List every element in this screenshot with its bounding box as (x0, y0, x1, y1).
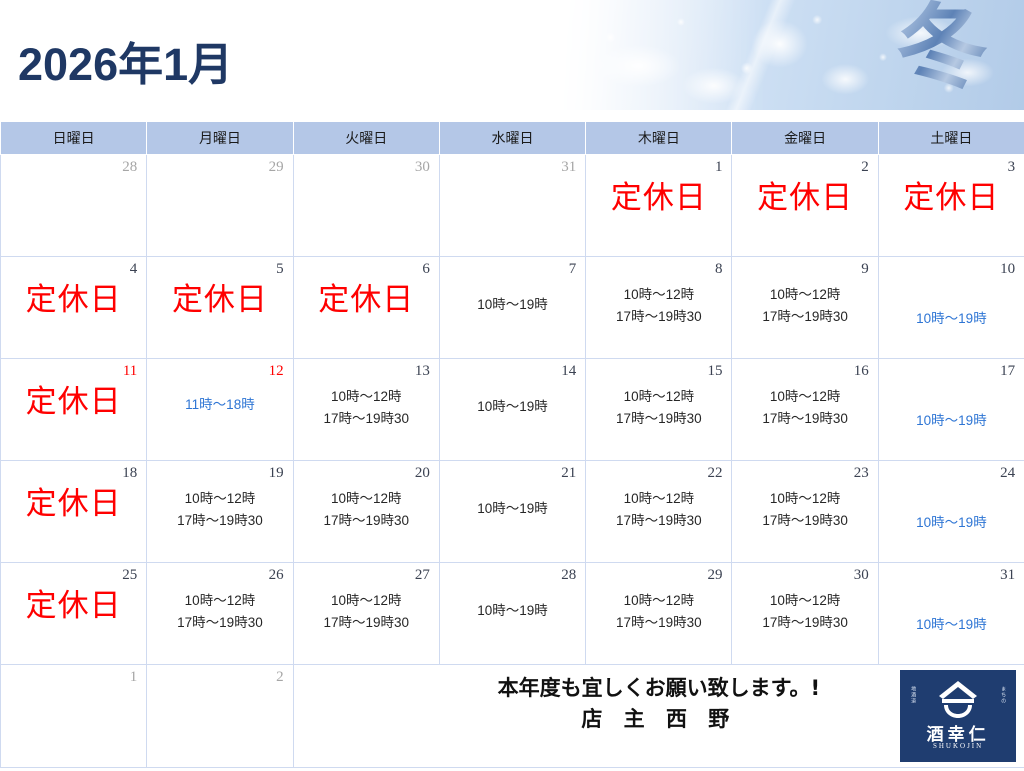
day-cell[interactable]: 1211時〜18時 (147, 359, 293, 461)
calendar-table: 日曜日 月曜日 火曜日 水曜日 木曜日 金曜日 土曜日 282930311定休日… (0, 121, 1024, 768)
day-content: 定休日 (586, 178, 731, 218)
day-cell[interactable]: 6定休日 (293, 257, 439, 359)
day-cell[interactable]: 29 (147, 155, 293, 257)
footer-row: 1 2 本年度も宜しくお願い致します。! 店 主 西 野 (1, 665, 1024, 768)
day-number: 28 (1, 155, 146, 176)
business-hours-line: 10時〜12時 (298, 386, 435, 408)
day-cell[interactable]: 3定休日 (878, 155, 1024, 257)
closed-label: 定休日 (5, 382, 142, 422)
business-hours-line: 10時〜19時 (883, 308, 1020, 330)
weekday-header-mon: 月曜日 (147, 122, 293, 155)
day-content: 定休日 (147, 280, 292, 320)
business-hours-line: 10時〜19時 (883, 410, 1020, 432)
day-cell[interactable]: 11定休日 (1, 359, 147, 461)
business-hours: 10時〜12時17時〜19時30 (736, 284, 873, 328)
business-hours: 10時〜12時17時〜19時30 (590, 488, 727, 532)
business-hours-line: 11時〜18時 (151, 394, 288, 416)
weekday-header-thu: 木曜日 (586, 122, 732, 155)
day-content: 10時〜12時17時〜19時30 (732, 590, 877, 634)
business-hours: 10時〜19時 (883, 308, 1020, 330)
day-cell[interactable]: 30 (293, 155, 439, 257)
day-number: 13 (294, 359, 439, 380)
day-cell[interactable]: 2610時〜12時17時〜19時30 (147, 563, 293, 665)
day-cell[interactable]: 1710時〜19時 (878, 359, 1024, 461)
day-number: 2 (147, 665, 292, 686)
business-hours: 10時〜12時17時〜19時30 (298, 590, 435, 634)
business-hours-line: 17時〜19時30 (298, 612, 435, 634)
closed-label: 定休日 (736, 178, 873, 218)
week-row: 4定休日5定休日6定休日710時〜19時810時〜12時17時〜19時30910… (1, 257, 1024, 359)
business-hours: 10時〜12時17時〜19時30 (736, 590, 873, 634)
business-hours-line: 10時〜19時 (444, 396, 581, 418)
business-hours-line: 10時〜19時 (444, 600, 581, 622)
day-number: 20 (294, 461, 439, 482)
day-cell[interactable]: 2810時〜19時 (439, 563, 585, 665)
business-hours: 10時〜19時 (883, 410, 1020, 432)
weekday-header-tue: 火曜日 (293, 122, 439, 155)
day-number: 3 (879, 155, 1024, 176)
day-cell[interactable]: 2910時〜12時17時〜19時30 (586, 563, 732, 665)
business-hours: 10時〜12時17時〜19時30 (736, 488, 873, 532)
weekday-header-wed: 水曜日 (439, 122, 585, 155)
day-cell[interactable]: 1410時〜19時 (439, 359, 585, 461)
day-content: 10時〜12時17時〜19時30 (732, 386, 877, 430)
day-content: 10時〜19時 (879, 410, 1024, 432)
day-number: 2 (732, 155, 877, 176)
day-number: 31 (440, 155, 585, 176)
business-hours-line: 10時〜12時 (736, 488, 873, 510)
day-cell[interactable]: 2310時〜12時17時〜19時30 (732, 461, 878, 563)
day-content: 定休日 (1, 382, 146, 422)
day-number: 14 (440, 359, 585, 380)
day-number: 4 (1, 257, 146, 278)
closed-label: 定休日 (883, 178, 1020, 218)
day-number: 23 (732, 461, 877, 482)
day-content: 10時〜12時17時〜19時30 (586, 590, 731, 634)
business-hours-line: 10時〜12時 (298, 488, 435, 510)
closed-label: 定休日 (5, 484, 142, 524)
day-cell[interactable]: 28 (1, 155, 147, 257)
day-content: 10時〜19時 (879, 614, 1024, 636)
business-hours: 10時〜12時17時〜19時30 (298, 386, 435, 430)
day-number: 30 (294, 155, 439, 176)
closed-label: 定休日 (151, 280, 288, 320)
week-row: 11定休日1211時〜18時1310時〜12時17時〜19時301410時〜19… (1, 359, 1024, 461)
business-hours-line: 10時〜12時 (151, 488, 288, 510)
day-cell[interactable]: 2410時〜19時 (878, 461, 1024, 563)
calendar-page: 冬 2026年1月 日曜日 月曜日 火曜日 水曜日 木曜日 金曜日 土曜日 28… (0, 0, 1024, 771)
business-hours-line: 17時〜19時30 (590, 306, 727, 328)
day-content: 10時〜12時17時〜19時30 (586, 488, 731, 532)
day-number: 6 (294, 257, 439, 278)
day-cell[interactable]: 4定休日 (1, 257, 147, 359)
day-number: 31 (879, 563, 1024, 584)
day-number: 21 (440, 461, 585, 482)
business-hours-line: 17時〜19時30 (590, 510, 727, 532)
closed-label: 定休日 (5, 280, 142, 320)
day-cell[interactable]: 710時〜19時 (439, 257, 585, 359)
business-hours-line: 10時〜12時 (590, 488, 727, 510)
logo-romaji: SHUKOJIN (900, 742, 1016, 750)
day-number: 7 (440, 257, 585, 278)
business-hours: 11時〜18時 (151, 394, 288, 416)
day-content: 10時〜12時17時〜19時30 (586, 284, 731, 328)
business-hours: 10時〜12時17時〜19時30 (151, 590, 288, 634)
business-hours-line: 10時〜12時 (298, 590, 435, 612)
weekday-header-fri: 金曜日 (732, 122, 878, 155)
business-hours: 10時〜12時17時〜19時30 (590, 284, 727, 328)
day-cell[interactable]: 1310時〜12時17時〜19時30 (293, 359, 439, 461)
business-hours: 10時〜12時17時〜19時30 (298, 488, 435, 532)
day-number: 29 (147, 155, 292, 176)
business-hours-line: 10時〜19時 (444, 498, 581, 520)
business-hours-line: 10時〜12時 (590, 386, 727, 408)
business-hours-line: 17時〜19時30 (736, 510, 873, 532)
day-number: 25 (1, 563, 146, 584)
business-hours: 10時〜19時 (444, 600, 581, 622)
business-hours-line: 10時〜12時 (736, 386, 873, 408)
day-content: 10時〜19時 (879, 308, 1024, 330)
day-cell[interactable]: 3110時〜19時 (878, 563, 1024, 665)
business-hours: 10時〜19時 (444, 396, 581, 418)
day-cell[interactable]: 1510時〜12時17時〜19時30 (586, 359, 732, 461)
day-cell[interactable]: 25定休日 (1, 563, 147, 665)
footer-message-cell: 本年度も宜しくお願い致します。! 店 主 西 野 地酒道 まちの 酒幸仁 SHU… (293, 665, 1024, 768)
closed-label: 定休日 (590, 178, 727, 218)
calendar-body: 282930311定休日2定休日3定休日4定休日5定休日6定休日710時〜19時… (1, 155, 1024, 665)
business-hours-line: 17時〜19時30 (736, 306, 873, 328)
closed-label: 定休日 (5, 586, 142, 626)
day-number: 10 (879, 257, 1024, 278)
business-hours-line: 17時〜19時30 (736, 408, 873, 430)
day-content: 10時〜19時 (440, 396, 585, 418)
day-number: 30 (732, 563, 877, 584)
day-number: 8 (586, 257, 731, 278)
business-hours-line: 10時〜19時 (883, 512, 1020, 534)
business-hours: 10時〜12時17時〜19時30 (590, 386, 727, 430)
day-cell[interactable]: 1 (1, 665, 147, 768)
day-number: 1 (1, 665, 146, 686)
day-cell[interactable]: 18定休日 (1, 461, 147, 563)
business-hours: 10時〜19時 (444, 294, 581, 316)
business-hours-line: 17時〜19時30 (151, 612, 288, 634)
day-content: 10時〜12時17時〜19時30 (732, 284, 877, 328)
day-content: 10時〜12時17時〜19時30 (586, 386, 731, 430)
day-cell[interactable]: 2010時〜12時17時〜19時30 (293, 461, 439, 563)
day-cell[interactable]: 31 (439, 155, 585, 257)
day-content: 定休日 (1, 280, 146, 320)
day-cell[interactable]: 810時〜12時17時〜19時30 (586, 257, 732, 359)
day-content: 10時〜12時17時〜19時30 (294, 488, 439, 532)
week-row: 25定休日2610時〜12時17時〜19時302710時〜12時17時〜19時3… (1, 563, 1024, 665)
day-cell[interactable]: 3010時〜12時17時〜19時30 (732, 563, 878, 665)
day-content: 10時〜12時17時〜19時30 (732, 488, 877, 532)
business-hours-line: 10時〜12時 (736, 590, 873, 612)
day-number: 24 (879, 461, 1024, 482)
weekday-header-row: 日曜日 月曜日 火曜日 水曜日 木曜日 金曜日 土曜日 (1, 122, 1024, 155)
week-row: 282930311定休日2定休日3定休日 (1, 155, 1024, 257)
closed-label: 定休日 (298, 280, 435, 320)
business-hours-line: 17時〜19時30 (590, 612, 727, 634)
day-content: 10時〜12時17時〜19時30 (147, 488, 292, 532)
logo-side-text-right: まちの (1000, 686, 1006, 704)
day-content: 定休日 (1, 586, 146, 626)
business-hours: 10時〜12時17時〜19時30 (590, 590, 727, 634)
business-hours: 10時〜12時17時〜19時30 (151, 488, 288, 532)
business-hours: 10時〜19時 (883, 614, 1020, 636)
day-content: 定休日 (732, 178, 877, 218)
day-number: 12 (147, 359, 292, 380)
day-content: 10時〜12時17時〜19時30 (294, 590, 439, 634)
logo-side-text-left: 地酒道 (910, 686, 916, 704)
day-number: 22 (586, 461, 731, 482)
day-cell[interactable]: 1610時〜12時17時〜19時30 (732, 359, 878, 461)
day-number: 19 (147, 461, 292, 482)
day-number: 18 (1, 461, 146, 482)
day-number: 27 (294, 563, 439, 584)
business-hours-line: 10時〜12時 (736, 284, 873, 306)
day-content: 10時〜19時 (440, 600, 585, 622)
day-content: 定休日 (294, 280, 439, 320)
day-number: 16 (732, 359, 877, 380)
day-number: 9 (732, 257, 877, 278)
day-cell[interactable]: 2110時〜19時 (439, 461, 585, 563)
business-hours-line: 10時〜19時 (883, 614, 1020, 636)
day-number: 5 (147, 257, 292, 278)
day-cell[interactable]: 2 (147, 665, 293, 768)
day-content: 11時〜18時 (147, 394, 292, 416)
day-cell[interactable]: 1定休日 (586, 155, 732, 257)
day-cell[interactable]: 910時〜12時17時〜19時30 (732, 257, 878, 359)
day-cell[interactable]: 2定休日 (732, 155, 878, 257)
day-number: 15 (586, 359, 731, 380)
business-hours-line: 17時〜19時30 (298, 510, 435, 532)
day-number: 11 (1, 359, 146, 380)
shop-logo: 地酒道 まちの 酒幸仁 SHUKOJIN (900, 670, 1016, 762)
day-cell[interactable]: 1010時〜19時 (878, 257, 1024, 359)
business-hours-line: 17時〜19時30 (590, 408, 727, 430)
business-hours-line: 17時〜19時30 (298, 408, 435, 430)
page-banner: 冬 2026年1月 (0, 0, 1024, 121)
day-content: 10時〜19時 (440, 498, 585, 520)
business-hours-line: 17時〜19時30 (151, 510, 288, 532)
day-content: 定休日 (879, 178, 1024, 218)
day-content: 10時〜12時17時〜19時30 (147, 590, 292, 634)
day-cell[interactable]: 1910時〜12時17時〜19時30 (147, 461, 293, 563)
business-hours: 10時〜19時 (883, 512, 1020, 534)
page-title: 2026年1月 (18, 28, 233, 93)
week-row: 18定休日1910時〜12時17時〜19時302010時〜12時17時〜19時3… (1, 461, 1024, 563)
business-hours: 10時〜12時17時〜19時30 (736, 386, 873, 430)
day-content: 定休日 (1, 484, 146, 524)
business-hours-line: 17時〜19時30 (736, 612, 873, 634)
torii-mark-icon (931, 679, 985, 719)
business-hours-line: 10時〜12時 (151, 590, 288, 612)
day-cell[interactable]: 2210時〜12時17時〜19時30 (586, 461, 732, 563)
business-hours-line: 10時〜12時 (590, 590, 727, 612)
winter-kanji-icon: 冬 (882, 0, 1002, 100)
day-cell[interactable]: 2710時〜12時17時〜19時30 (293, 563, 439, 665)
day-number: 17 (879, 359, 1024, 380)
day-number: 28 (440, 563, 585, 584)
business-hours-line: 10時〜19時 (444, 294, 581, 316)
day-cell[interactable]: 5定休日 (147, 257, 293, 359)
day-number: 29 (586, 563, 731, 584)
day-number: 26 (147, 563, 292, 584)
business-hours: 10時〜19時 (444, 498, 581, 520)
weekday-header-sat: 土曜日 (878, 122, 1024, 155)
business-hours-line: 10時〜12時 (590, 284, 727, 306)
day-content: 10時〜19時 (440, 294, 585, 316)
day-number: 1 (586, 155, 731, 176)
day-content: 10時〜12時17時〜19時30 (294, 386, 439, 430)
day-content: 10時〜19時 (879, 512, 1024, 534)
weekday-header-sun: 日曜日 (1, 122, 147, 155)
